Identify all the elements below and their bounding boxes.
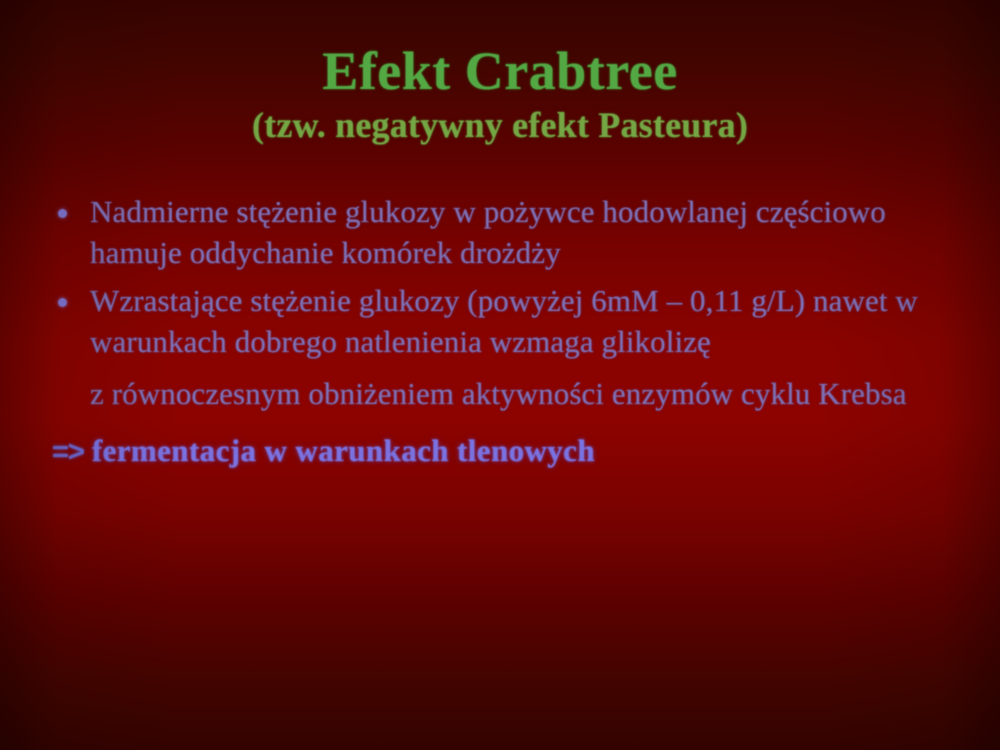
continuation-paragraph: z równoczesnym obniżeniem aktywności enz…: [44, 374, 959, 415]
list-item: Wzrastające stężenie glukozy (powyżej 6m…: [44, 281, 959, 362]
slide-body: Nadmierne stężenie glukozy w pożywce hod…: [44, 192, 959, 469]
continuation-label: z równoczesnym obniżeniem aktywności enz…: [90, 376, 907, 411]
list-item: Nadmierne stężenie glukozy w pożywce hod…: [44, 192, 959, 273]
conclusion-line: =>fermentacja w warunkach tlenowych: [44, 433, 959, 469]
arrow-right-icon: =>: [52, 436, 84, 468]
list-item-label: Nadmierne stężenie glukozy w pożywce hod…: [90, 194, 886, 270]
slide-canvas: Efekt Crabtree (tzw. negatywny efekt Pas…: [0, 0, 1000, 750]
bullet-dot-icon: [58, 209, 67, 218]
list-item-label: Wzrastające stężenie glukozy (powyżej 6m…: [90, 283, 918, 359]
bullet-dot-icon: [58, 298, 67, 307]
conclusion-label: fermentacja w warunkach tlenowych: [92, 433, 595, 468]
page-subtitle: (tzw. negatywny efekt Pasteura): [0, 107, 1000, 145]
page-title: Efekt Crabtree: [0, 44, 1000, 99]
title-block: Efekt Crabtree (tzw. negatywny efekt Pas…: [0, 44, 1000, 145]
